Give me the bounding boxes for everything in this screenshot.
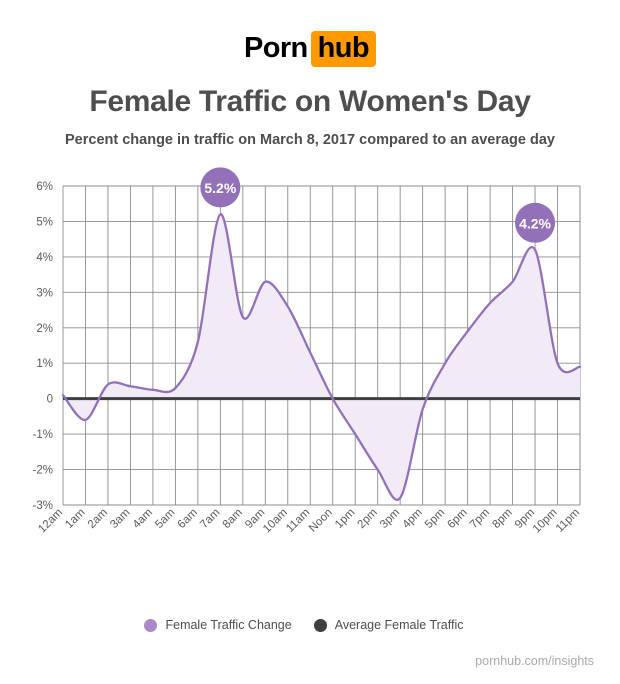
svg-text:3am: 3am	[108, 507, 132, 531]
x-axis-tick-label: 5am	[153, 507, 177, 531]
svg-text:8pm: 8pm	[490, 507, 514, 531]
svg-text:7am: 7am	[198, 507, 222, 531]
logo-text: Pornhub	[244, 34, 376, 63]
legend-item-female-traffic-change: Female Traffic Change	[144, 618, 291, 632]
x-axis-tick-label: 1pm	[333, 507, 357, 531]
source-link[interactable]: pornhub.com/insights	[475, 654, 594, 668]
y-axis-tick-label: 0	[47, 394, 53, 406]
x-axis-tick-label: 11pm	[554, 507, 582, 535]
svg-text:3pm: 3pm	[378, 507, 402, 531]
svg-text:5am: 5am	[153, 507, 177, 531]
svg-text:2am: 2am	[86, 507, 110, 531]
y-axis-tick-label: -2%	[33, 465, 53, 477]
x-axis-tick-label: 6am	[176, 507, 200, 531]
traffic-area-chart: 6%5%4%3%2%1%0-1%-2%-3%12am1am2am3am4am5a…	[0, 162, 620, 582]
y-axis-tick-label: 3%	[36, 287, 53, 299]
y-axis-tick-label: 5%	[36, 216, 53, 228]
legend-dot-dark	[314, 619, 327, 632]
y-axis-tick-label: 1%	[36, 358, 53, 370]
brand-logo: Pornhub	[0, 0, 620, 63]
x-axis-tick-label: 7pm	[468, 507, 492, 531]
svg-text:6pm: 6pm	[445, 507, 469, 531]
x-axis-tick-label: 10am	[261, 507, 290, 536]
svg-text:10am: 10am	[261, 507, 290, 536]
y-axis-tick-label: 2%	[36, 323, 53, 335]
chart-legend: Female Traffic Change Average Female Tra…	[0, 618, 620, 632]
svg-text:11pm: 11pm	[554, 507, 582, 535]
legend-dot-purple	[144, 619, 157, 632]
svg-text:6am: 6am	[176, 507, 200, 531]
svg-text:4pm: 4pm	[400, 507, 424, 531]
y-axis-tick-label: -3%	[33, 500, 53, 512]
logo-hub-badge: hub	[311, 31, 376, 67]
y-axis-tick-label: 4%	[36, 252, 53, 264]
x-axis-tick-label: 7am	[198, 507, 222, 531]
svg-text:10pm: 10pm	[531, 507, 560, 536]
svg-text:4am: 4am	[131, 507, 155, 531]
x-axis-tick-label: 2pm	[356, 507, 380, 531]
legend-label-average-female-traffic: Average Female Traffic	[335, 618, 464, 632]
svg-text:1am: 1am	[63, 507, 87, 531]
chart-container: 6%5%4%3%2%1%0-1%-2%-3%12am1am2am3am4am5a…	[0, 162, 620, 582]
x-axis-tick-label: 3pm	[378, 507, 402, 531]
y-axis-tick-label: -1%	[33, 429, 53, 441]
svg-text:11am: 11am	[284, 507, 312, 535]
svg-text:7pm: 7pm	[468, 507, 492, 531]
svg-text:Noon: Noon	[307, 507, 335, 535]
badge-value: 4.2%	[519, 215, 551, 231]
x-axis-tick-label: 1am	[63, 507, 87, 531]
x-axis-tick-label: 11am	[284, 507, 312, 535]
data-label-badge: 4.2%	[515, 203, 555, 243]
svg-text:1pm: 1pm	[333, 507, 357, 531]
legend-label-female-traffic-change: Female Traffic Change	[165, 618, 291, 632]
x-axis-tick-label: 8pm	[490, 507, 514, 531]
badge-value: 5.2%	[204, 180, 236, 196]
x-axis-tick-label: 5pm	[423, 507, 447, 531]
y-axis-tick-label: 6%	[36, 181, 53, 193]
page-title: Female Traffic on Women's Day	[0, 85, 620, 119]
x-axis-tick-label: 10pm	[531, 507, 560, 536]
x-axis-tick-label: 8am	[221, 507, 245, 531]
legend-item-average-female-traffic: Average Female Traffic	[314, 618, 464, 632]
x-axis-tick-label: 6pm	[445, 507, 469, 531]
svg-text:8am: 8am	[221, 507, 245, 531]
svg-text:5pm: 5pm	[423, 507, 447, 531]
x-axis-tick-label: 4am	[131, 507, 155, 531]
x-axis-tick-label: 2am	[86, 507, 110, 531]
page-subtitle: Percent change in traffic on March 8, 20…	[0, 132, 620, 148]
data-label-badge: 5.2%	[200, 167, 240, 207]
x-axis-tick-label: 3am	[108, 507, 132, 531]
svg-text:2pm: 2pm	[356, 507, 380, 531]
x-axis-tick-label: 4pm	[400, 507, 424, 531]
logo-porn-text: Porn	[244, 32, 308, 64]
x-axis-tick-label: Noon	[307, 507, 335, 535]
